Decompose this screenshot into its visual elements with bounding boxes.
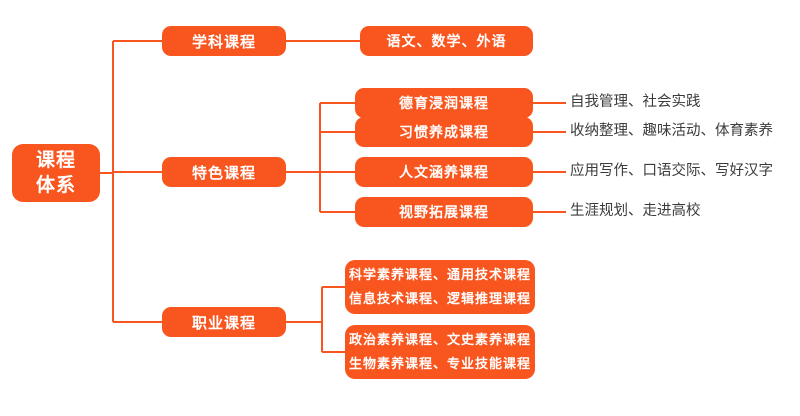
leaf-text-habit-forming: 收纳整理、趣味活动、体育素养 bbox=[570, 122, 773, 140]
leaf-line-2: 信息技术课程、逻辑推理课程 bbox=[349, 287, 531, 311]
leaf-text-moral-education: 自我管理、社会实践 bbox=[570, 93, 701, 111]
leaf-text-humanities: 应用写作、口语交际、写好汉字 bbox=[570, 162, 773, 180]
root-label-line2: 体系 bbox=[36, 173, 76, 198]
leaf-box-humanities[interactable]: 人文涵养课程 bbox=[355, 157, 533, 187]
root-node[interactable]: 课程 体系 bbox=[12, 144, 100, 202]
leaf-box-vocational-group-1[interactable]: 科学素养课程、通用技术课程 信息技术课程、逻辑推理课程 bbox=[345, 260, 535, 314]
branch-node-featured-courses[interactable]: 特色课程 bbox=[162, 157, 286, 187]
branch-node-subject-courses[interactable]: 学科课程 bbox=[162, 26, 286, 56]
leaf-box-vocational-group-2[interactable]: 政治素养课程、文史素养课程 生物素养课程、专业技能课程 bbox=[345, 325, 535, 379]
leaf-text-horizon-expansion: 生涯规划、走进高校 bbox=[570, 202, 701, 220]
leaf-box-horizon-expansion[interactable]: 视野拓展课程 bbox=[355, 197, 533, 227]
leaf-line-1: 政治素养课程、文史素养课程 bbox=[349, 328, 531, 352]
root-label-line1: 课程 bbox=[36, 148, 76, 173]
diagram-canvas: 课程 体系 学科课程 语文、数学、外语 特色课程 德育浸润课程 自我管理、社会实… bbox=[0, 0, 800, 416]
leaf-box-moral-education[interactable]: 德育浸润课程 bbox=[355, 88, 533, 118]
leaf-line-2: 生物素养课程、专业技能课程 bbox=[349, 352, 531, 376]
leaf-box-habit-forming[interactable]: 习惯养成课程 bbox=[355, 117, 533, 147]
branch-node-vocational-courses[interactable]: 职业课程 bbox=[162, 307, 286, 337]
leaf-box-subject-courses-1[interactable]: 语文、数学、外语 bbox=[360, 26, 533, 56]
leaf-line-1: 科学素养课程、通用技术课程 bbox=[349, 263, 531, 287]
